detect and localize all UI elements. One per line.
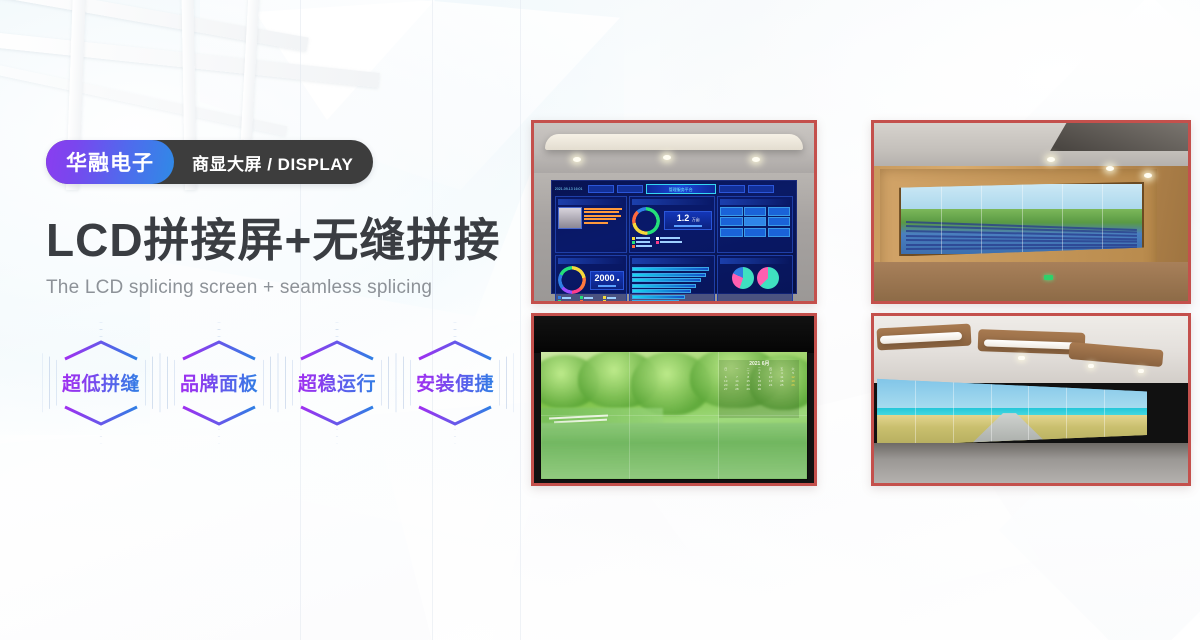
donut-chart — [632, 207, 660, 235]
feature-hex-2: 品牌面板 — [160, 327, 278, 439]
card-thumbnail — [558, 207, 582, 229]
photo-lake-willow-video-wall: 2021 6月 日一二三四五六 12345 6789101112 1314151… — [531, 313, 817, 486]
downlight — [663, 155, 671, 160]
dashboard-nav-button — [748, 185, 774, 193]
dashboard-card — [717, 255, 793, 301]
card-header — [558, 258, 624, 264]
chart-legend — [632, 237, 712, 248]
ceiling-beam — [0, 0, 309, 51]
stat-value: 2000 — [595, 273, 615, 283]
ceiling-beam — [0, 58, 287, 136]
downlight — [1144, 173, 1152, 178]
feature-label: 超稳运行 — [298, 369, 376, 396]
badge-category: 商显大屏 / DISPLAY — [174, 150, 353, 175]
dashboard-nav-button — [617, 185, 643, 193]
flow-diagram — [720, 207, 790, 237]
donut-chart — [558, 266, 586, 294]
video-wall-screen — [877, 376, 1147, 446]
chevron-up-icon — [63, 339, 139, 361]
chevron-up-icon — [417, 339, 493, 361]
pie-chart — [732, 267, 754, 289]
feature-hex-1: 超低拼缝 — [42, 327, 160, 439]
photo-beach-boardwalk-video-wall — [871, 313, 1191, 486]
chevron-up-icon — [299, 339, 375, 361]
chevron-down-icon — [181, 405, 257, 427]
product-banner: 华融电子 商显大屏 / DISPLAY LCD拼接屏+无缝拼接 The LCD … — [0, 0, 1200, 640]
card-header — [558, 199, 624, 205]
brand-badge: 华融电子 商显大屏 / DISPLAY — [46, 140, 373, 184]
dashboard-nav-button — [719, 185, 745, 193]
downlight — [1106, 166, 1114, 171]
dashboard-navbar: 2021-09-13 16:01 管理服务平台 — [555, 184, 793, 194]
stat-unit: 万亩 — [692, 217, 700, 222]
video-wall-screen: 2021 6月 日一二三四五六 12345 6789101112 1314151… — [540, 351, 809, 480]
ceiling-cove — [545, 134, 803, 150]
dashboard-card — [629, 255, 715, 301]
screen-bezel — [534, 316, 814, 353]
brand-name: 华融电子 — [46, 140, 174, 184]
feature-label: 安装便捷 — [416, 369, 494, 396]
calendar-title: 2021 6月 — [719, 360, 799, 367]
dashboard-card: 1.2 万亩 — [629, 196, 715, 254]
feature-hex-3: 超稳运行 — [278, 327, 396, 439]
chevron-down-icon — [417, 405, 493, 427]
ceiling-beam — [0, 31, 380, 88]
exit-sign-icon — [1044, 275, 1053, 280]
banner-text-column: 华融电子 商显大屏 / DISPLAY LCD拼接屏+无缝拼接 The LCD … — [46, 140, 526, 439]
stat-value: 1.2 — [677, 213, 690, 223]
chevron-down-icon — [63, 405, 139, 427]
dashboard-screen: 2021-09-13 16:01 管理服务平台 — [551, 180, 797, 294]
lake-water — [541, 423, 808, 479]
photo-solar-farm-video-wall — [871, 120, 1191, 304]
pie-chart-group — [720, 267, 790, 289]
card-header — [720, 258, 790, 264]
chart-legend — [558, 296, 624, 301]
calendar-overlay: 2021 6月 日一二三四五六 12345 6789101112 1314151… — [719, 360, 799, 418]
bar-chart-list — [632, 266, 712, 301]
dashboard-card: 2000 ■ — [555, 255, 627, 301]
ceiling-beam — [241, 0, 262, 140]
dashboard-card — [717, 196, 793, 254]
ceiling-dark-panel — [1050, 123, 1188, 151]
photo-dashboard-video-wall: 2021-09-13 16:01 管理服务平台 — [531, 120, 817, 304]
card-header — [632, 258, 712, 264]
dashboard-timestamp: 2021-09-13 16:01 — [555, 185, 585, 193]
dashboard-grid: 1.2 万亩 — [555, 196, 793, 301]
room-floor — [874, 262, 1188, 301]
feature-list: 超低拼缝 品牌面板 — [42, 327, 526, 439]
page-subtitle: The LCD splicing screen + seamless splic… — [46, 277, 526, 299]
dashboard-title: 管理服务平台 — [646, 184, 716, 194]
card-text-lines — [584, 207, 624, 229]
feature-label: 超低拼缝 — [62, 369, 140, 396]
stat-box: 1.2 万亩 — [664, 211, 712, 230]
dashboard-nav-button — [588, 185, 614, 193]
feature-label: 品牌面板 — [180, 369, 258, 396]
pie-chart — [757, 267, 779, 289]
downlight — [1047, 157, 1055, 162]
room-ceiling — [534, 123, 814, 176]
stat-box: 2000 ■ — [590, 271, 624, 290]
video-wall-screen — [899, 182, 1144, 257]
card-header — [720, 199, 790, 205]
dashboard-card — [555, 196, 627, 254]
room-floor — [874, 443, 1188, 483]
feature-hex-4: 安装便捷 — [396, 327, 514, 439]
calendar-grid: 日一二三四五六 12345 6789101112 13141516171819 … — [719, 367, 799, 393]
chevron-down-icon — [299, 405, 375, 427]
downlight — [1088, 364, 1094, 368]
chevron-up-icon — [181, 339, 257, 361]
bg-facet — [255, 0, 435, 120]
page-title: LCD拼接屏+无缝拼接 — [46, 216, 526, 265]
card-header — [632, 199, 712, 205]
downlight — [573, 157, 581, 162]
